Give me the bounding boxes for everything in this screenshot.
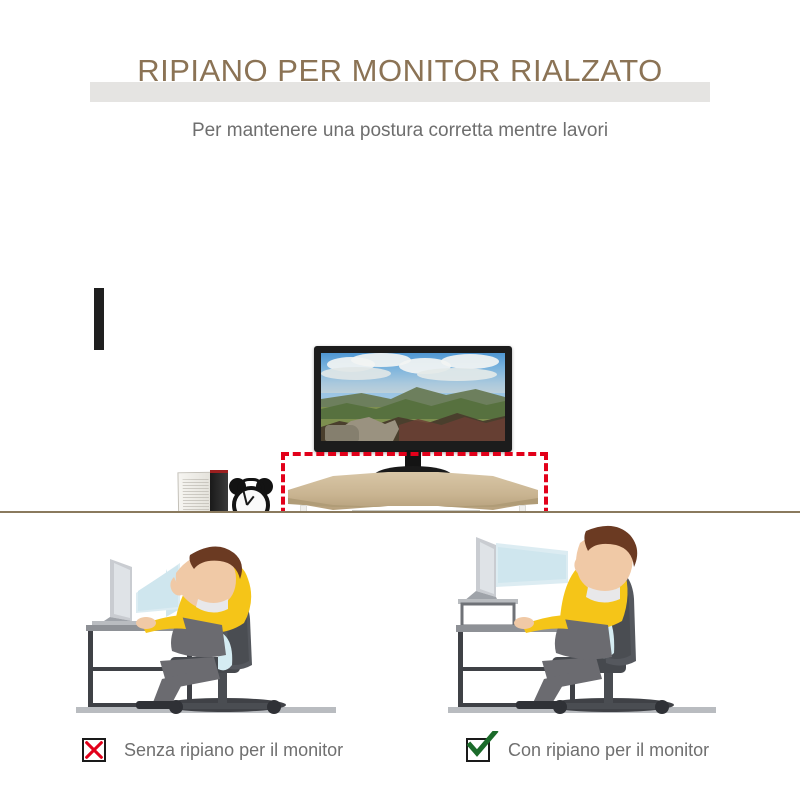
book-black	[210, 470, 228, 512]
monitor	[314, 346, 512, 452]
posture-illustrations	[0, 513, 800, 730]
book-white	[177, 472, 214, 512]
monitor-screen-wallpaper	[321, 353, 505, 441]
illustration-without-riser	[48, 521, 408, 721]
monitor-riser-highlight-box	[281, 452, 548, 512]
monitor-support-pole	[94, 288, 104, 350]
product-feature-page: RIPIANO PER MONITOR RIALZATO Per mantene…	[0, 0, 800, 800]
red-cross-icon	[82, 738, 106, 762]
comparison-captions: Senza ripiano per il monitor Con ripiano…	[0, 730, 800, 780]
book-text-lines	[183, 479, 210, 512]
caption-with-riser: Con ripiano per il monitor	[466, 730, 709, 770]
product-photo: S6l UNI DSJ CLOTHING	[0, 160, 800, 512]
without-riser-svg	[48, 521, 408, 721]
caption-without-riser-label: Senza ripiano per il monitor	[124, 740, 343, 761]
cloud-icon	[321, 367, 391, 380]
caption-with-riser-label: Con ripiano per il monitor	[508, 740, 709, 761]
caption-without-riser: Senza ripiano per il monitor	[82, 730, 343, 770]
illustration-with-riser	[400, 521, 760, 721]
page-header: RIPIANO PER MONITOR RIALZATO Per mantene…	[0, 0, 800, 160]
page-title: RIPIANO PER MONITOR RIALZATO	[0, 52, 800, 90]
with-riser-svg	[400, 521, 760, 721]
cloud-icon	[417, 368, 497, 381]
green-check-icon	[466, 738, 490, 762]
alarm-clock	[228, 478, 274, 512]
page-subtitle: Per mantenere una postura corretta mentr…	[0, 118, 800, 144]
cloud-icon	[441, 354, 499, 369]
page-title-wrap: RIPIANO PER MONITOR RIALZATO	[0, 52, 800, 90]
wallpaper-rock	[325, 425, 359, 441]
